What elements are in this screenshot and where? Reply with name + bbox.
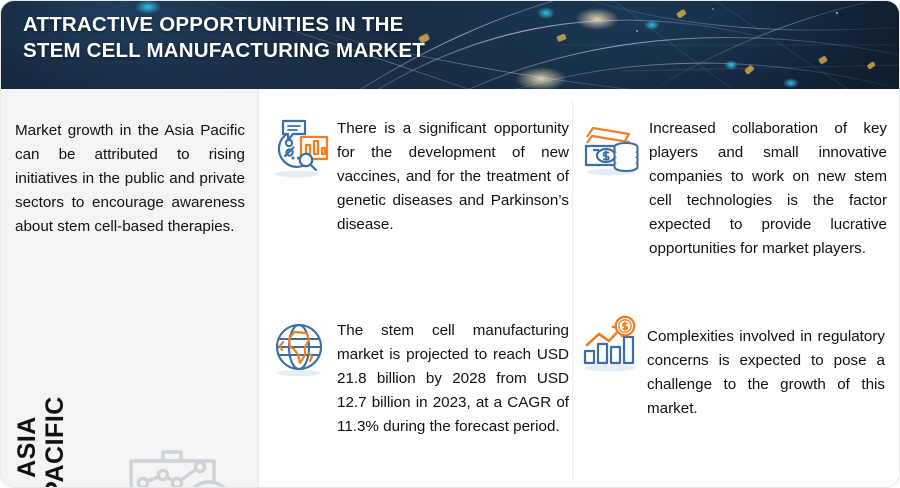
insight-block-forecast: The stem cell manufacturing market is pr… bbox=[269, 319, 569, 439]
page-title: ATTRACTIVE OPPORTUNITIES IN THE STEM CEL… bbox=[23, 12, 543, 64]
insight-text-regulatory: Complexities involved in regulatory conc… bbox=[647, 325, 885, 421]
region-label-asia-pacific: ASIA PACIFIC bbox=[13, 367, 69, 488]
insight-block-collaboration: Increased collaboration of key players a… bbox=[581, 117, 893, 261]
left-panel-body-text: Market growth in the Asia Pacific can be… bbox=[15, 119, 245, 239]
insight-text-collaboration: Increased collaboration of key players a… bbox=[649, 117, 887, 261]
insight-text-vaccines: There is a significant opportunity for t… bbox=[337, 117, 569, 237]
infographic-page: ATTRACTIVE OPPORTUNITIES IN THE STEM CEL… bbox=[0, 0, 900, 488]
money-cash-coins-icon bbox=[581, 117, 643, 179]
globe-world-icon bbox=[269, 319, 331, 381]
presentation-board-analytics-icon bbox=[119, 447, 244, 488]
insight-block-regulatory: Complexities involved in regulatory conc… bbox=[579, 313, 893, 421]
column-divider bbox=[572, 101, 573, 481]
insight-text-forecast: The stem cell manufacturing market is pr… bbox=[337, 319, 569, 439]
insight-block-vaccines: There is a significant opportunity for t… bbox=[269, 117, 569, 237]
left-region-panel: Market growth in the Asia Pacific can be… bbox=[1, 89, 258, 488]
panel-divider-left bbox=[258, 89, 259, 488]
header-banner: ATTRACTIVE OPPORTUNITIES IN THE STEM CEL… bbox=[1, 1, 900, 89]
growth-bar-chart-dollar-icon bbox=[579, 313, 641, 375]
market-analytics-percent-icon bbox=[269, 117, 331, 179]
